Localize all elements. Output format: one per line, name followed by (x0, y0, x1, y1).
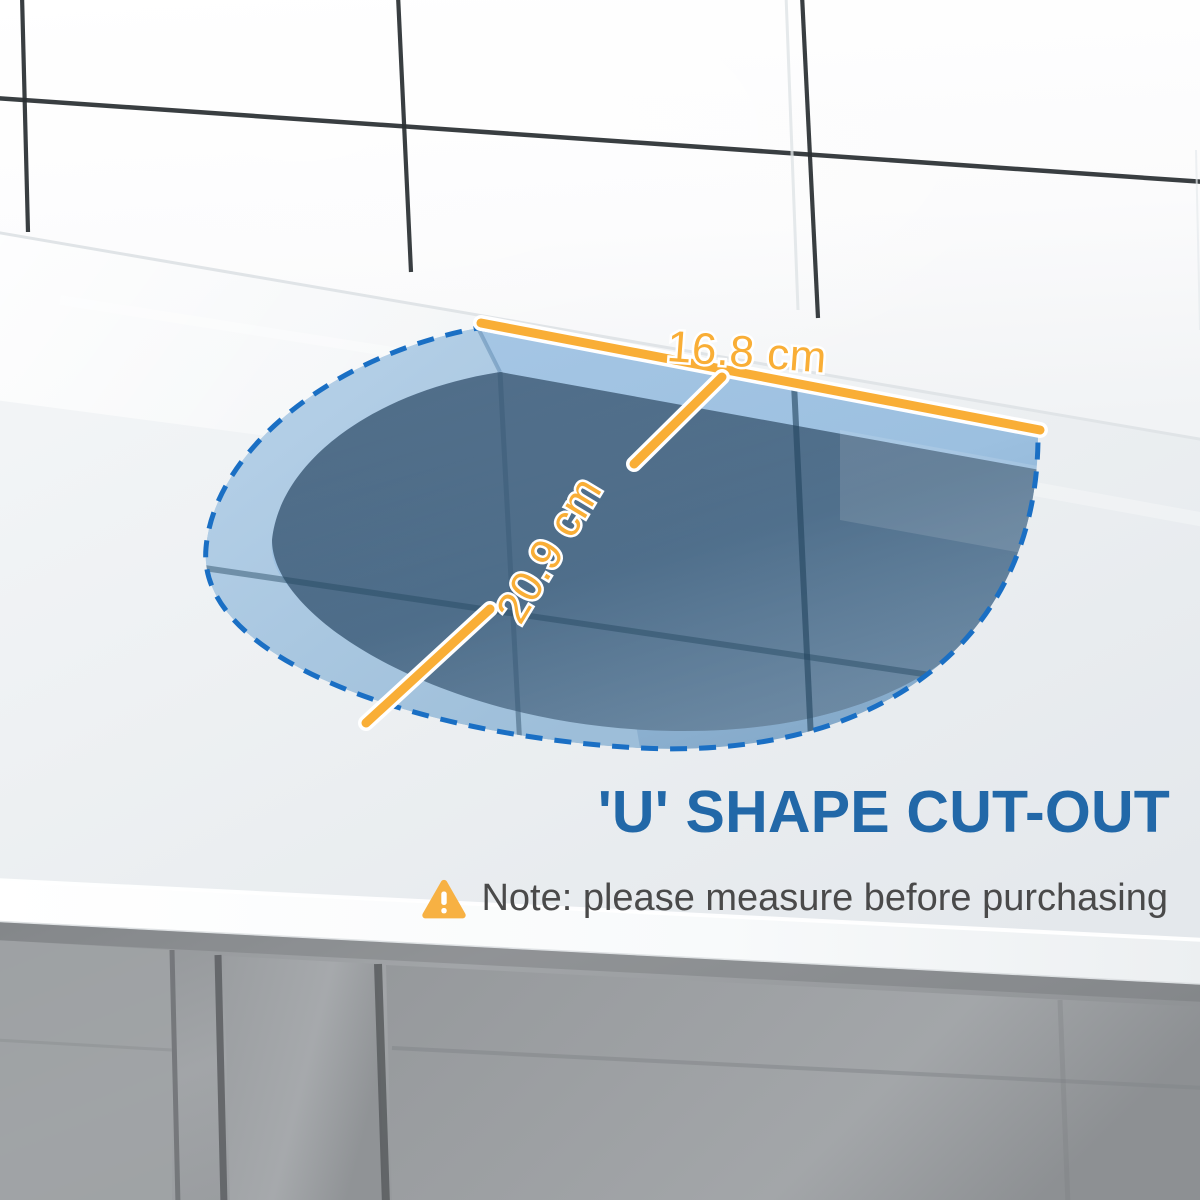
note-row: Note: please measure before purchasing (0, 878, 1168, 920)
cutout-interior (150, 300, 1100, 800)
note-text: Note: please measure before purchasing (481, 878, 1168, 920)
cutout-overlay (0, 0, 1200, 1200)
headline-block: 'U' SHAPE CUT-OUT (0, 782, 1170, 843)
product-image-scene: 16.8 cm 20.9 cm 'U' SHAPE CUT-OUT Note: … (0, 0, 1200, 1200)
warning-triangle-icon (421, 878, 467, 920)
page-title: 'U' SHAPE CUT-OUT (0, 782, 1170, 843)
dimension-width-text: 16.8 cm (665, 322, 828, 383)
